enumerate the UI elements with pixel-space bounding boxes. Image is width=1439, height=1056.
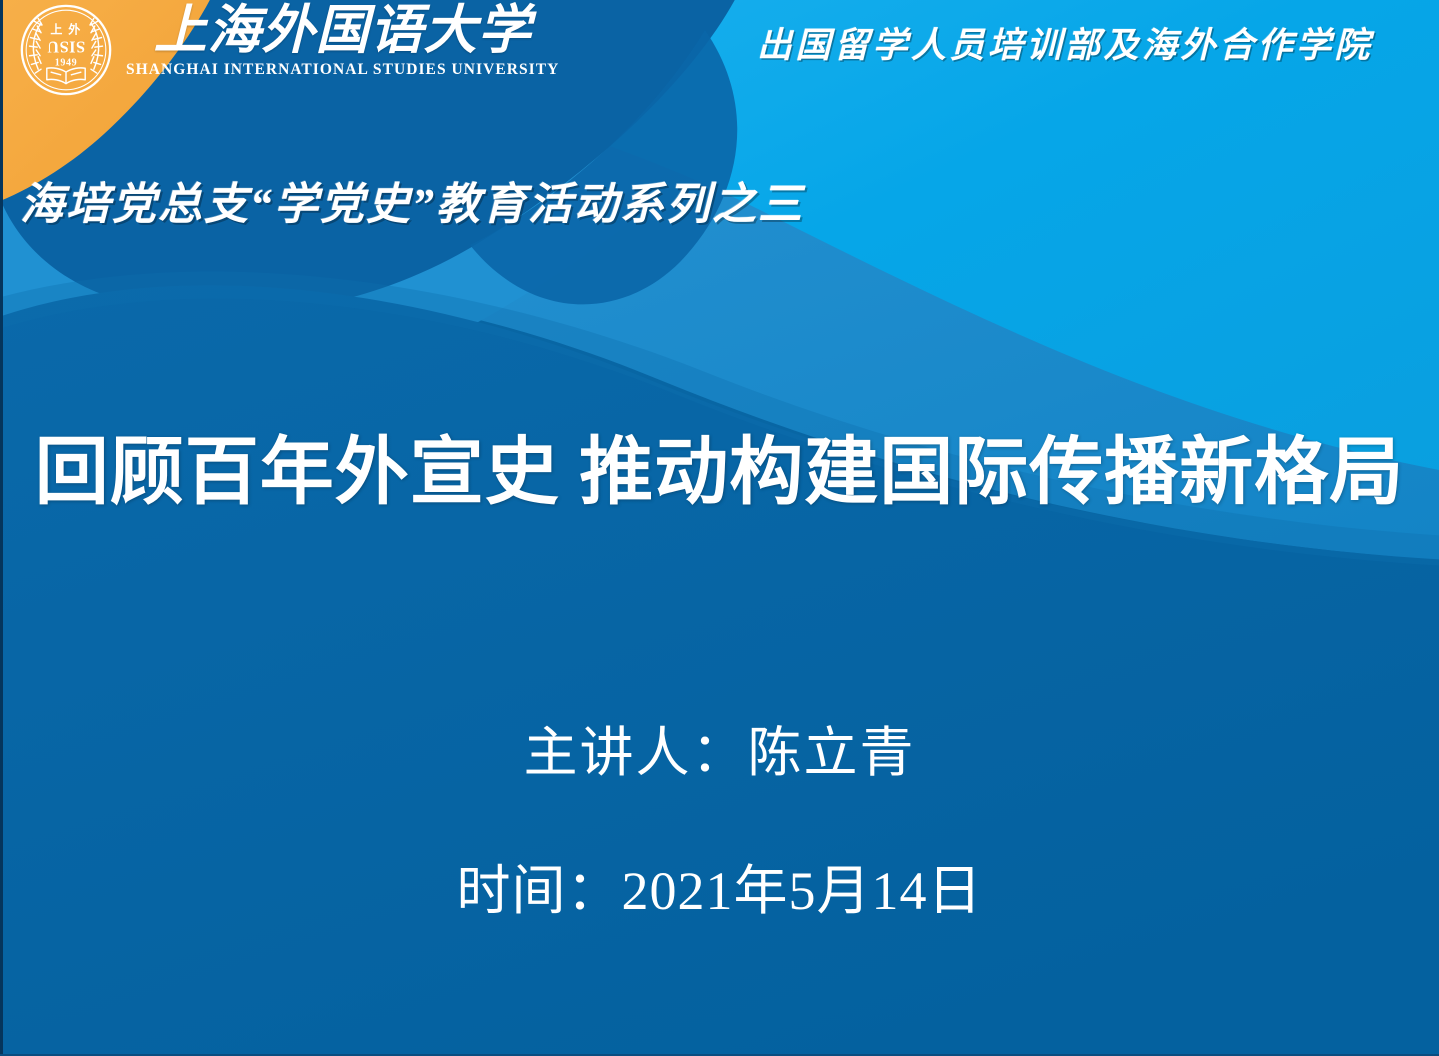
page-title: 回顾百年外宣史 推动构建国际传播新格局 xyxy=(0,412,1439,519)
series-subtitle: 海培党总支“学党史”教育活动系列之三 xyxy=(20,168,804,232)
university-wordmark: 上海外国语大学 SHANGHAI INTERNATIONAL STUDIES U… xyxy=(126,4,559,79)
presentation-title-slide: 上 外 SISU 1949 上海外国语大学 SHANGHAI INTERNATI… xyxy=(0,0,1439,1056)
university-logo-lockup: 上 外 SISU 1949 上海外国语大学 SHANGHAI INTERNATI… xyxy=(18,2,559,98)
svg-text:1949: 1949 xyxy=(55,57,77,68)
wordmark-english: SHANGHAI INTERNATIONAL STUDIES UNIVERSIT… xyxy=(126,61,559,79)
sisu-seal-emblem-icon: 上 外 SISU 1949 xyxy=(18,2,114,98)
slide-left-edge xyxy=(0,0,3,1056)
svg-text:SISU: SISU xyxy=(47,37,85,56)
svg-text:上 外: 上 外 xyxy=(50,22,81,37)
department-banner: 出国留学人员培训部及海外合作学院 xyxy=(757,17,1373,68)
wordmark-chinese: 上海外国语大学 xyxy=(154,4,532,58)
speaker-line: 主讲人：陈立青 xyxy=(0,708,1439,787)
datetime-line: 时间：2021年5月14日 xyxy=(0,846,1439,925)
